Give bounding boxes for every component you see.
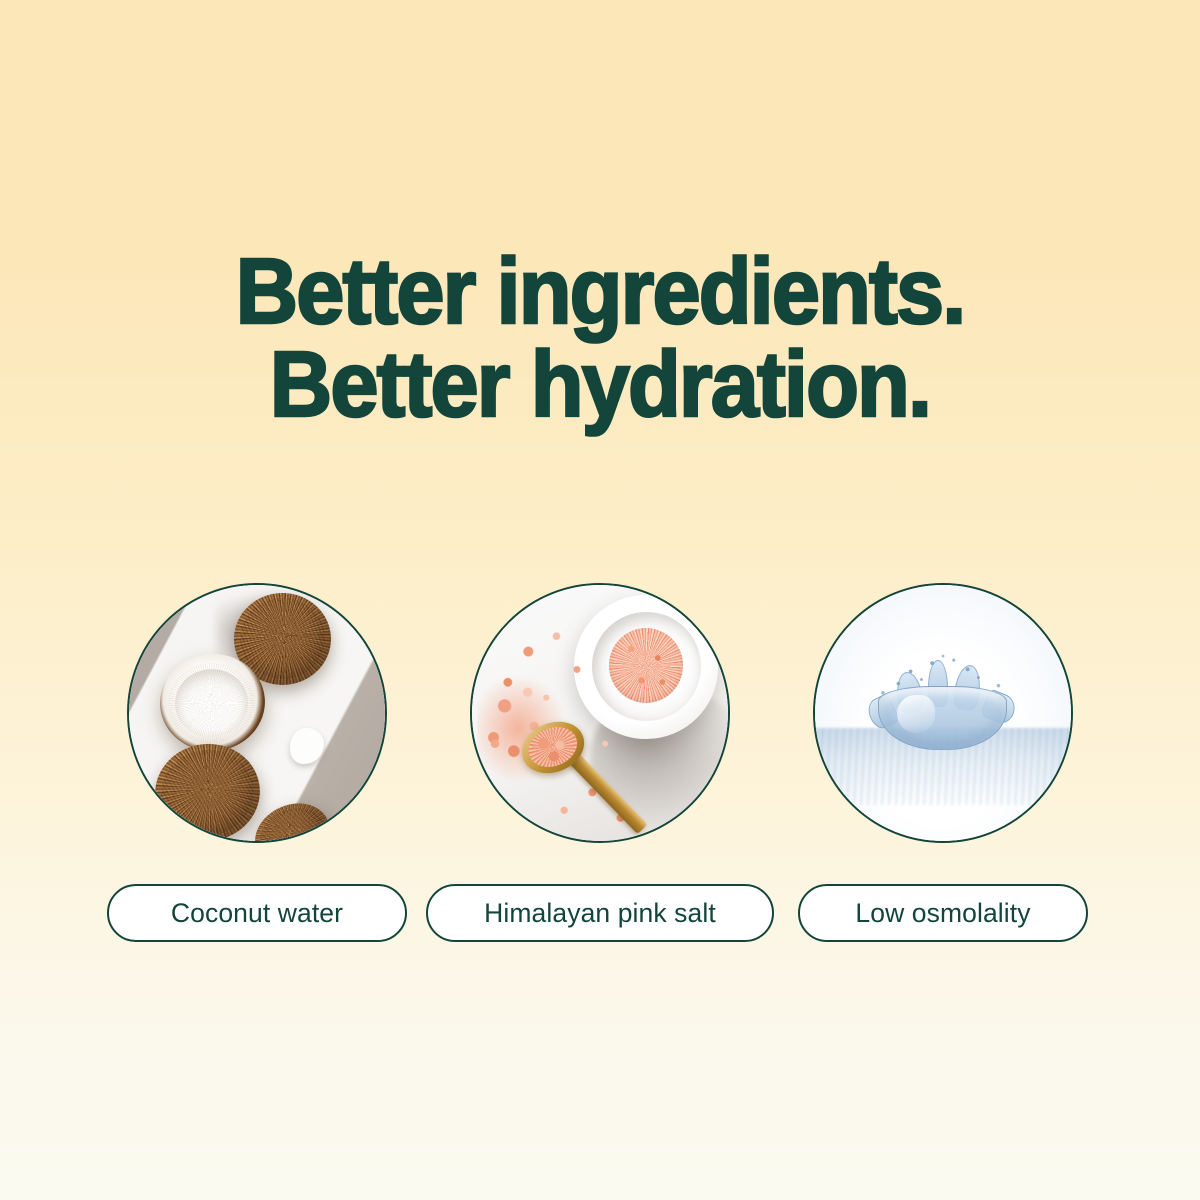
feature-card-coconut-water[interactable]: Coconut water: [104, 583, 410, 942]
feature-label-himalayan-pink-salt[interactable]: Himalayan pink salt: [426, 884, 774, 942]
headline-line-1: Better ingredients.: [42, 245, 1158, 338]
water-splash-icon: [815, 585, 1071, 841]
coconut-image-circle: [127, 583, 387, 843]
salt-image-circle: [470, 583, 730, 843]
feature-label-coconut-water[interactable]: Coconut water: [107, 884, 407, 942]
splash-droplets: [866, 652, 1020, 754]
salt-grains: [472, 585, 728, 841]
promo-canvas: Better ingredients. Better hydration. Co…: [0, 0, 1200, 1200]
page-title: Better ingredients. Better hydration.: [42, 245, 1158, 431]
splash-crown: [866, 652, 1020, 754]
feature-card-himalayan-pink-salt[interactable]: Himalayan pink salt: [447, 583, 753, 942]
feature-card-low-osmolality[interactable]: Low osmolality: [790, 583, 1096, 942]
salt-icon: [472, 585, 728, 841]
water-image-circle: [813, 583, 1073, 843]
headline-line-2: Better hydration.: [42, 338, 1158, 431]
coconut-icon: [129, 585, 385, 841]
feature-label-low-osmolality[interactable]: Low osmolality: [798, 884, 1088, 942]
feature-row: Coconut water Himalayan pink sal: [104, 583, 1096, 943]
